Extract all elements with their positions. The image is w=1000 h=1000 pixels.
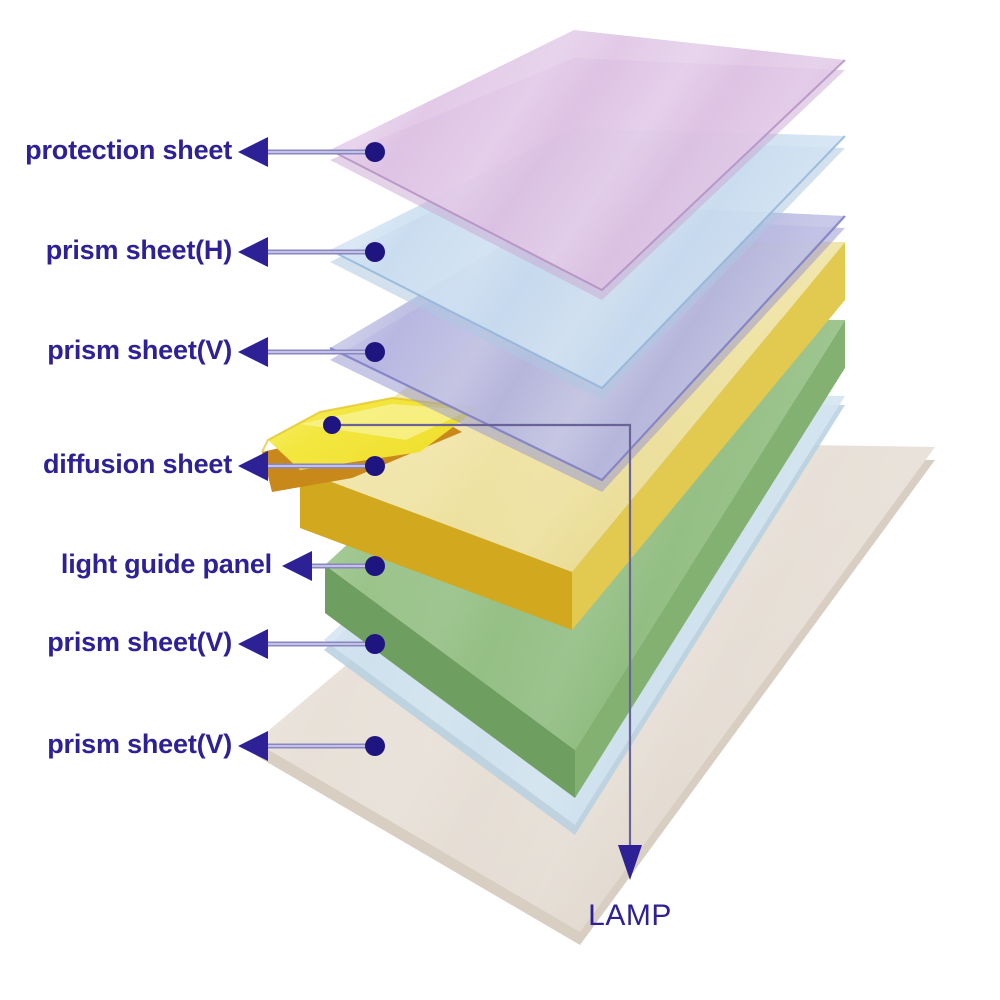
label-prism-sheet-v-mid: prism sheet(V) <box>47 627 232 657</box>
diagram-canvas: protection sheet prism sheet(H) prism sh… <box>0 0 1000 1000</box>
lamp-anchor-dot <box>323 416 341 434</box>
label-light-guide-panel: light guide panel <box>61 549 272 579</box>
label-lamp: LAMP <box>588 899 672 932</box>
label-protection-sheet: protection sheet <box>25 135 232 165</box>
label-prism-sheet-v-bot: prism sheet(V) <box>47 729 232 759</box>
label-prism-sheet-h: prism sheet(H) <box>46 235 232 265</box>
label-prism-sheet-v-top: prism sheet(V) <box>47 335 232 365</box>
label-diffusion-sheet: diffusion sheet <box>43 449 232 479</box>
layer-stack-diagram: protection sheet prism sheet(H) prism sh… <box>0 0 1000 1000</box>
